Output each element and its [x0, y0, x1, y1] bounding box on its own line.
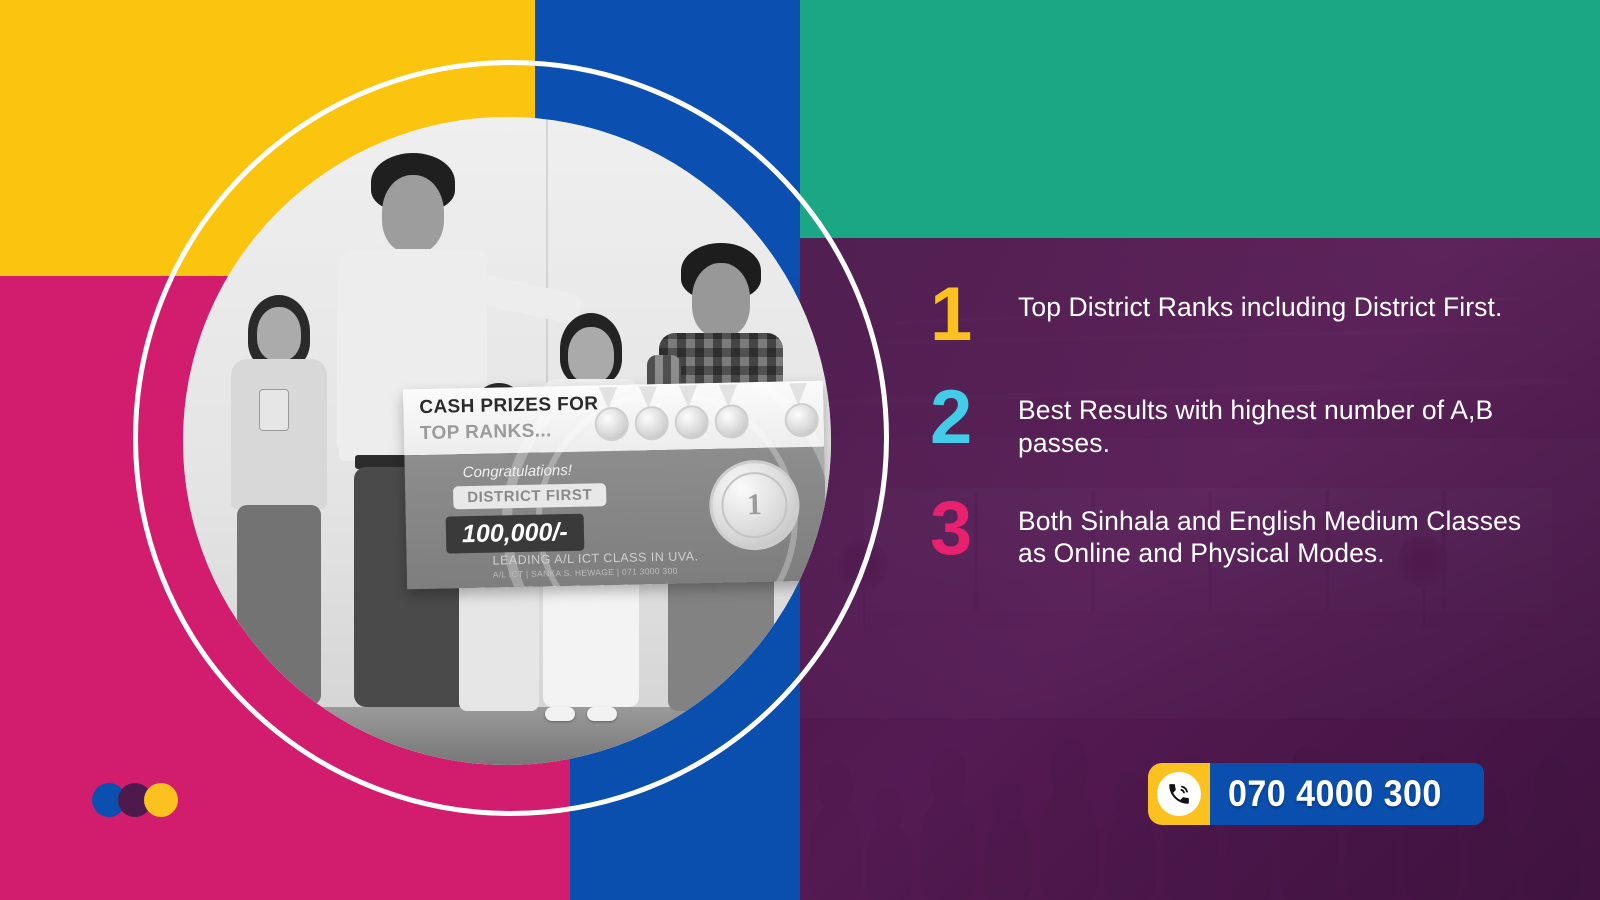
cheque-heading-line1: CASH PRIZES FOR: [419, 393, 599, 419]
cheque-heading-line2: TOP RANKS...: [420, 420, 552, 445]
phone-number: 070 4000 300: [1228, 773, 1442, 815]
medal-number: 1: [721, 471, 788, 538]
cheque-amount: 100,000/-: [446, 514, 584, 554]
students-photo: 1 CASH PRIZES FOR TOP RANKS... Congratul…: [183, 117, 831, 765]
highlight-text-3: Both Sinhala and English Medium Classes …: [1018, 496, 1530, 571]
highlight-item-1: 1 Top District Ranks including District …: [930, 282, 1530, 349]
highlight-number-1: 1: [930, 282, 1018, 349]
cheque-rank-label: DISTRICT FIRST: [453, 483, 607, 509]
promo-poster: 1 CASH PRIZES FOR TOP RANKS... Congratul…: [0, 0, 1600, 900]
highlight-text-1: Top District Ranks including District Fi…: [1018, 282, 1502, 324]
contact-phone-badge[interactable]: 070 4000 300: [1148, 763, 1484, 825]
highlight-number-3: 3: [930, 496, 1018, 563]
phone-icon-container: [1148, 763, 1210, 825]
phone-call-icon: [1157, 772, 1201, 816]
decorative-dots: [92, 783, 170, 817]
color-block-teal: [800, 0, 1600, 238]
highlight-item-2: 2 Best Results with highest number of A,…: [930, 385, 1530, 460]
cash-prize-cheque: 1 CASH PRIZES FOR TOP RANKS... Congratul…: [403, 381, 827, 590]
highlight-text-2: Best Results with highest number of A,B …: [1018, 385, 1530, 460]
highlight-number-2: 2: [930, 385, 1018, 452]
phone-number-container: 070 4000 300: [1210, 763, 1484, 825]
highlights-list: 1 Top District Ranks including District …: [930, 282, 1530, 606]
highlight-item-3: 3 Both Sinhala and English Medium Classe…: [930, 496, 1530, 571]
cheque-congratulations: Congratulations!: [463, 462, 573, 481]
dot-yellow: [144, 783, 178, 817]
